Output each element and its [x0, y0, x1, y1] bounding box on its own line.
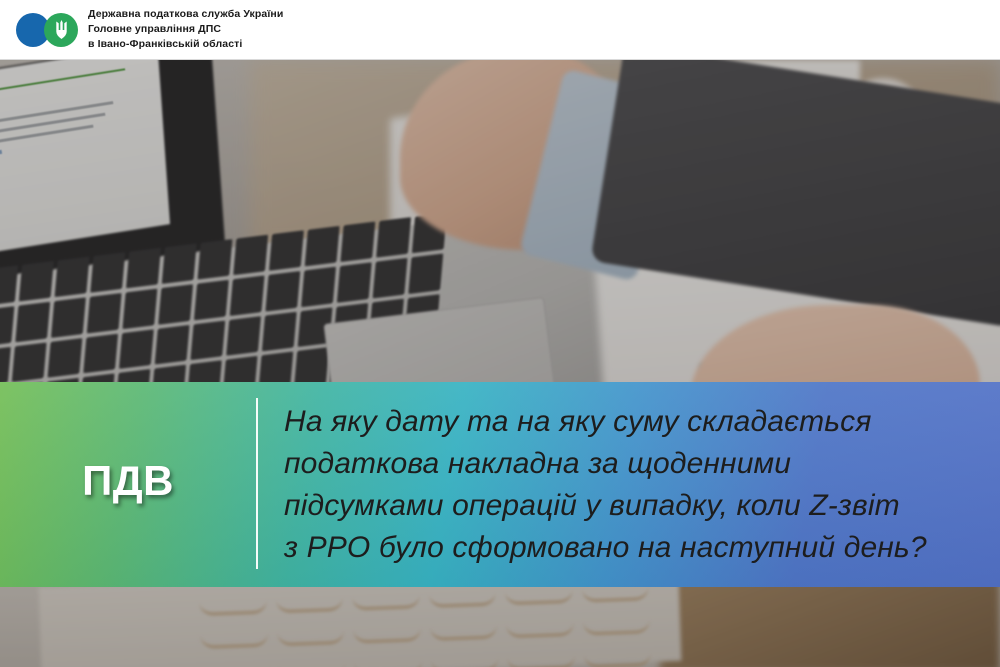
tax-category-label: ПДВ — [82, 457, 174, 505]
question-banner: ПДВ На яку дату та на яку суму складаєть… — [0, 382, 1000, 587]
organization-name: Державна податкова служба України Головн… — [88, 7, 283, 52]
banner-content: ПДВ На яку дату та на яку суму складаєть… — [0, 382, 1000, 587]
question-line-4: з РРО було сформовано на наступний день? — [284, 527, 994, 569]
org-line-3: в Івано-Франківській області — [88, 37, 283, 52]
green-circle-tryzub-icon — [44, 13, 78, 47]
site-header: Державна податкова служба України Головн… — [0, 0, 1000, 60]
dps-logo[interactable] — [16, 13, 78, 47]
vertical-divider — [256, 398, 258, 569]
question-line-3: підсумками операцій у випадку, коли Z-зв… — [284, 485, 994, 527]
page-root: Державна податкова служба України Головн… — [0, 0, 1000, 667]
tax-category: ПДВ — [0, 382, 256, 587]
question-text: На яку дату та на яку суму складається п… — [258, 382, 1000, 587]
question-line-2: податкова накладна за щоденними — [284, 443, 994, 485]
org-line-2: Головне управління ДПС — [88, 22, 283, 37]
question-line-1: На яку дату та на яку суму складається — [284, 401, 994, 443]
org-line-1: Державна податкова служба України — [88, 7, 283, 22]
